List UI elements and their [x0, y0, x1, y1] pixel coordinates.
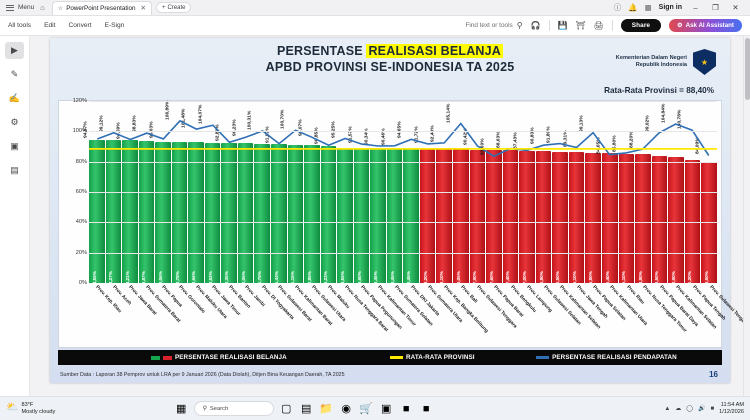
excel-icon[interactable]: ■ [419, 403, 434, 415]
line-value-label: 99,12% [100, 115, 105, 132]
toolbar-divider [549, 20, 550, 31]
document-scrollbar[interactable] [743, 36, 750, 396]
bar: 88,55% [337, 149, 353, 283]
scrollbar-thumb[interactable] [745, 38, 750, 100]
bell-icon[interactable]: 🔔 [628, 3, 637, 12]
taskbar-center: ▦ ⚲ Search ▢ ▤ 📁 ◉ 🛒 ▣ ■ ■ [174, 401, 434, 416]
browser-menu-icon[interactable] [6, 5, 14, 11]
chart-plot-area: 0%20%40%60%80%100%120% 94,55%94,97%94,27… [58, 100, 722, 348]
ask-ai-assistant-button[interactable]: ⚙ Ask AI Assistant [669, 19, 742, 32]
home-icon[interactable]: ⌂ [40, 3, 45, 12]
bar: 84,80% [635, 154, 651, 283]
signin-button[interactable]: Sign in [659, 4, 682, 11]
chart-legend: PERSENTASE REALISASI BELANJARATA-RATA PR… [58, 350, 722, 365]
legend-item-pendapatan: PERSENTASE REALISASI PENDAPATAN [536, 354, 677, 361]
line-value-label: 84,09% [696, 138, 701, 155]
bar: 87,00% [519, 151, 535, 283]
menu-edit[interactable]: Edit [44, 22, 55, 29]
star-icon[interactable]: ☆ [58, 5, 63, 12]
bar: 92,66% [188, 142, 204, 283]
ministry-line2: Republik Indonesia [616, 62, 687, 70]
grid-line [89, 131, 717, 132]
browser-menu-label[interactable]: Menu [18, 4, 34, 11]
line-value-label: 87,43% [514, 133, 519, 150]
line-value-label: 101,48% [181, 109, 186, 128]
bar: 87,90% [470, 150, 486, 283]
line-value-label: 92,40% [431, 125, 436, 142]
bar: 86,80% [536, 151, 552, 283]
legend-swatch [536, 356, 549, 359]
weather-desc: Mostly cloudy [21, 409, 55, 416]
bar: 92,52% [205, 143, 221, 283]
highlight-tool[interactable]: ✍ [5, 90, 24, 107]
network-icon[interactable]: ◯ [686, 405, 693, 412]
bar: 91,44% [271, 144, 287, 283]
bar: 85,80% [585, 153, 601, 283]
stamp-tool[interactable]: ▤ [5, 162, 24, 179]
menu-all-tools[interactable]: All tools [8, 22, 31, 29]
bar: 88,50% [354, 149, 370, 283]
line-value-label: 91,57% [348, 127, 353, 144]
line-value-label: 91,92% [265, 126, 270, 143]
bar: 88,20% [420, 149, 436, 283]
browser-tab[interactable]: ☆ PowerPoint Presentation ✕ [52, 1, 152, 15]
line-value-label: 92,80% [216, 125, 221, 142]
line-value-label: 94,97% [83, 121, 88, 138]
garuda-emblem-icon: ★ [693, 49, 716, 75]
onedrive-icon[interactable]: ☁ [675, 405, 681, 412]
start-icon[interactable]: ▦ [174, 402, 189, 415]
ministry-block: Kementerian Dalam Negeri Republik Indone… [616, 49, 716, 75]
legend-label: PERSENTASE REALISASI PENDAPATAN [552, 354, 677, 361]
bar: 92,35% [221, 143, 237, 283]
line-value-label: 91,89% [547, 126, 552, 143]
legend-swatch [151, 356, 160, 360]
save-icon[interactable]: 💾 [558, 21, 568, 30]
title-prefix: PERSENTASE [277, 44, 367, 58]
bar: 85,10% [619, 154, 635, 283]
select-tool[interactable]: ▶ [5, 42, 24, 59]
line-value-label: 96,23% [232, 119, 237, 136]
ministry-line1: Kementerian Dalam Negeri [616, 55, 687, 63]
y-axis-tick: 120% [73, 98, 87, 104]
taskbar-clock[interactable]: 11:54 AM 1/12/2026 [719, 402, 744, 416]
grid-line [89, 162, 717, 163]
legend-label: RATA-RATA PROVINSI [406, 354, 475, 361]
average-label: Rata-Rata Provinsi = 88,40% [604, 86, 714, 95]
grid-line [89, 222, 717, 223]
line-value-label: 95,03% [150, 121, 155, 138]
x-axis-label: Prov. Papua Tengah [691, 285, 726, 322]
print-icon[interactable]: 🖨 [594, 21, 604, 30]
grid-line [89, 192, 717, 193]
y-axis-tick: 40% [76, 219, 87, 225]
plus-icon: + [162, 5, 166, 11]
bar: 88,45% [387, 149, 403, 283]
find-label: Find text or tools [465, 22, 512, 29]
line-value-label: 100,70% [281, 110, 286, 129]
line-value-label: 94,65% [398, 122, 403, 139]
text-tool[interactable]: ▣ [5, 138, 24, 155]
acrobat-toolbar-right: Find text or tools ⚲ 🎧 💾 ⛩ 🖨 Share ⚙ Ask… [465, 19, 742, 32]
bar: 91,79% [254, 144, 270, 283]
store-icon[interactable]: 🛒 [359, 402, 374, 415]
line-value-label: 88,20% [630, 132, 635, 149]
bar: 87,40% [503, 150, 519, 283]
taskbar-tray: ▲ ☁ ◯ 🔊 ■ 11:54 AM 1/12/2026 [664, 402, 744, 416]
taskbar-search[interactable]: ⚲ Search [194, 401, 274, 416]
word-icon[interactable]: ■ [399, 403, 414, 415]
bar: 88,10% [436, 149, 452, 283]
search-icon[interactable]: ⚲ [517, 21, 523, 30]
left-tool-rail: ▶ ✎ ✍ ⚙ ▣ ▤ [0, 36, 30, 396]
legend-item-belanja: PERSENTASE REALISASI BELANJA [151, 354, 287, 361]
grid-line [89, 253, 717, 254]
line-value-label: 96,07% [299, 120, 304, 137]
y-axis-tick: 0% [79, 280, 87, 286]
line-value-label: 100,31% [248, 111, 253, 130]
source-note: Sumber Data : Laporan 38 Pemprov untuk L… [60, 372, 345, 378]
edge-icon[interactable]: ◉ [339, 402, 354, 415]
slide-page-number: 16 [709, 370, 718, 379]
line-value-label: 99,02% [646, 115, 651, 132]
legend-swatch [390, 356, 403, 359]
close-icon[interactable]: ✕ [141, 4, 146, 12]
line-value-label: 90,85% [315, 128, 320, 145]
bar: 82,90% [668, 157, 684, 283]
line-value-label: 85,80% [613, 135, 618, 152]
line-value-label: 105,14% [446, 103, 451, 122]
windows-taskbar: ⛅ 83°F Mostly cloudy ▦ ⚲ Search ▢ ▤ 📁 ◉ … [0, 396, 750, 420]
help-icon[interactable]: ⓘ [614, 2, 622, 13]
bar: 85,40% [602, 153, 618, 283]
find-text-or-tools[interactable]: Find text or tools ⚲ [465, 21, 522, 30]
window-close-button[interactable]: ✕ [729, 3, 742, 12]
bar: 92,78% [172, 142, 188, 283]
title-highlight: REALISASI BELANJA [366, 44, 503, 58]
bar: 88,05% [453, 149, 469, 283]
line-value-label: 90,83% [530, 128, 535, 145]
legend-swatch [163, 356, 172, 360]
menu-convert[interactable]: Convert [68, 22, 91, 29]
presentation-slide: PERSENTASE REALISASI BELANJA APBD PROVIN… [50, 38, 730, 383]
create-tab-button[interactable]: + Create [156, 2, 192, 13]
bar: 86,50% [552, 152, 568, 283]
workspace: ▶ ✎ ✍ ⚙ ▣ ▤ PERSENTASE REALISASI BELANJA… [0, 36, 750, 396]
share-button[interactable]: Share [621, 19, 661, 32]
line-value-label: 106,89% [165, 101, 170, 120]
cloud-sun-icon: ⛅ [6, 405, 18, 412]
bar: 83,50% [652, 156, 668, 283]
clock-date: 1/12/2026 [719, 409, 744, 416]
menu-esign[interactable]: E-Sign [105, 22, 125, 29]
line-value-label: 91,72% [414, 126, 419, 143]
widgets-icon[interactable]: ▤ [299, 402, 314, 415]
bar: 87,60% [486, 150, 502, 283]
line-value-label: 100,78% [678, 110, 683, 129]
bar: 92,05% [238, 143, 254, 283]
bar: 90,23% [321, 146, 337, 283]
task-view-icon[interactable]: ▢ [279, 402, 294, 415]
folder-icon[interactable]: 📁 [319, 402, 334, 415]
legend-item-rata-rata: RATA-RATA PROVINSI [390, 354, 475, 361]
line-value-label: 104,07% [198, 105, 203, 124]
grid-line [89, 101, 717, 102]
draw-tool[interactable]: ⚙ [5, 114, 24, 131]
chevron-up-icon[interactable]: ▲ [664, 406, 670, 412]
line-value-label: 104,84% [661, 104, 666, 123]
acrobat-toolbar: All tools Edit Convert E-Sign Find text … [0, 16, 750, 36]
minimize-button[interactable]: – [689, 3, 702, 12]
bar: 93,06% [155, 142, 171, 283]
line-value-label: 94,59% [117, 122, 122, 139]
bar: 86,10% [569, 152, 585, 283]
document-area[interactable]: PERSENTASE REALISASI BELANJA APBD PROVIN… [30, 36, 750, 396]
browser-tab-bar: Menu ⌂ ☆ PowerPoint Presentation ✕ + Cre… [0, 0, 750, 16]
headphones-icon[interactable]: 🎧 [531, 21, 541, 30]
y-axis-tick: 20% [76, 250, 87, 256]
line-value-label: 99,13% [580, 115, 585, 132]
line-value-label: 88,63% [497, 131, 502, 148]
battery-icon[interactable]: ■ [710, 406, 714, 412]
browser-tab-title: PowerPoint Presentation [66, 5, 135, 12]
x-axis-label: Prov. Maluku Utara [194, 285, 227, 320]
acrobat-icon[interactable]: ▣ [379, 402, 394, 415]
maximize-button[interactable]: ❐ [709, 3, 722, 12]
search-placeholder: Search [210, 406, 228, 412]
line-value-label: 95,25% [332, 121, 337, 138]
toolbar-divider-2 [612, 20, 613, 31]
legend-label: PERSENTASE REALISASI BELANJA [175, 354, 287, 361]
comment-tool[interactable]: ✎ [5, 66, 24, 83]
line-value-label: 83,60% [481, 139, 486, 156]
y-axis-tick: 60% [76, 189, 87, 195]
search-icon: ⚲ [203, 406, 207, 412]
y-axis-tick: 80% [76, 159, 87, 165]
browser-right-controls: ⓘ 🔔 ▦ Sign in – ❐ ✕ [614, 2, 746, 13]
ai-label: Ask AI Assistant [686, 22, 734, 29]
bar: 91,15% [288, 145, 304, 283]
volume-icon[interactable]: 🔊 [698, 405, 705, 412]
create-label: Create [167, 5, 185, 11]
line-value-label: 84,65% [596, 137, 601, 154]
x-axis-label: Prov. Jawa Tengah [575, 285, 608, 320]
ai-sparkle-icon: ⚙ [677, 22, 683, 29]
line-value-label: 89,31% [563, 130, 568, 147]
apps-icon[interactable]: ▦ [645, 3, 652, 12]
bar: 88,45% [370, 149, 386, 283]
bar: 88,45% [403, 149, 419, 283]
line-value-label: 98,83% [133, 116, 138, 133]
weather-widget[interactable]: ⛅ 83°F Mostly cloudy [6, 402, 55, 415]
x-axis-labels: Prov. Kep. RiauProv. AcehProv. Jawa Bara… [89, 285, 717, 347]
clock-time: 11:54 AM [719, 402, 744, 409]
upload-cloud-icon[interactable]: ⛩ [575, 21, 585, 30]
x-axis-label: Prov. Papua Barat [492, 285, 524, 318]
bar: 90,85% [304, 145, 320, 283]
